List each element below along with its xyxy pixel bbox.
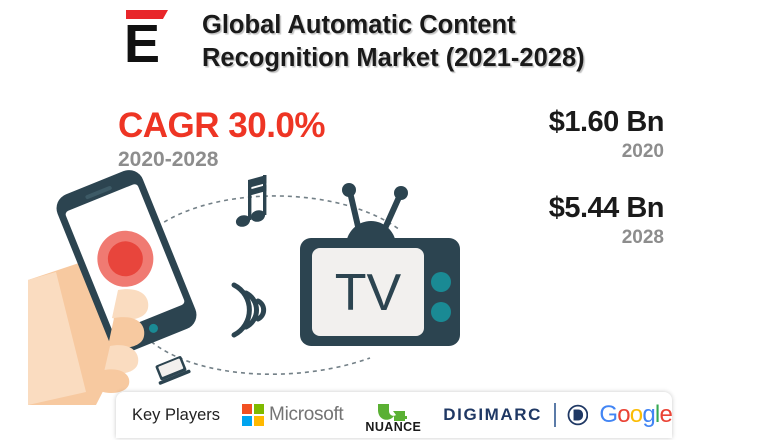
- music-note-icon: [234, 175, 266, 229]
- tv-screen-label: TV: [335, 264, 402, 322]
- page-title-line1: Global Automatic Content: [202, 9, 722, 42]
- key-player-microsoft[interactable]: Microsoft: [242, 404, 343, 426]
- signal-waves-icon: [234, 285, 264, 335]
- logo-divider: [554, 403, 555, 427]
- illustration: TV: [0, 160, 780, 410]
- market-value-2020-amount: $1.60 Bn: [464, 106, 664, 139]
- tv-knob-top: [431, 272, 451, 292]
- tv-knob-bottom: [431, 302, 451, 322]
- page-title-line2: Recognition Market (2021-2028): [202, 42, 722, 75]
- google-letter-e: e: [659, 401, 672, 428]
- key-player-google[interactable]: Google: [599, 401, 672, 429]
- page-title: Global Automatic Content Recognition Mar…: [202, 9, 722, 75]
- key-players-bar: Key Players Microsoft NUANCE DIGIMARC: [116, 392, 672, 438]
- google-letter-g1: G: [599, 401, 617, 428]
- brand-logo: E: [124, 8, 170, 70]
- google-letter-g2: g: [642, 401, 655, 428]
- digimarc-circle-d-icon: [567, 404, 589, 426]
- microsoft-wordmark: Microsoft: [269, 404, 343, 426]
- logo-letter: E: [124, 19, 159, 69]
- infographic-root: E Global Automatic Content Recognition M…: [0, 0, 780, 440]
- key-player-nuance[interactable]: NUANCE: [365, 402, 421, 434]
- retro-television: TV: [300, 183, 460, 346]
- cagr-value: CAGR 30.0%: [118, 107, 325, 145]
- nuance-wordmark: NUANCE: [365, 420, 421, 434]
- google-letter-o1: o: [617, 401, 630, 428]
- microsoft-squares-icon: [242, 404, 264, 426]
- header: E Global Automatic Content Recognition M…: [0, 0, 780, 92]
- google-letter-o2: o: [630, 401, 643, 428]
- market-value-2020: $1.60 Bn 2020: [464, 106, 664, 163]
- nuance-swoosh-icon: [376, 402, 410, 421]
- key-players-label: Key Players: [132, 406, 220, 425]
- key-player-digimarc[interactable]: DIGIMARC: [443, 405, 542, 425]
- small-device-icon: [152, 354, 191, 385]
